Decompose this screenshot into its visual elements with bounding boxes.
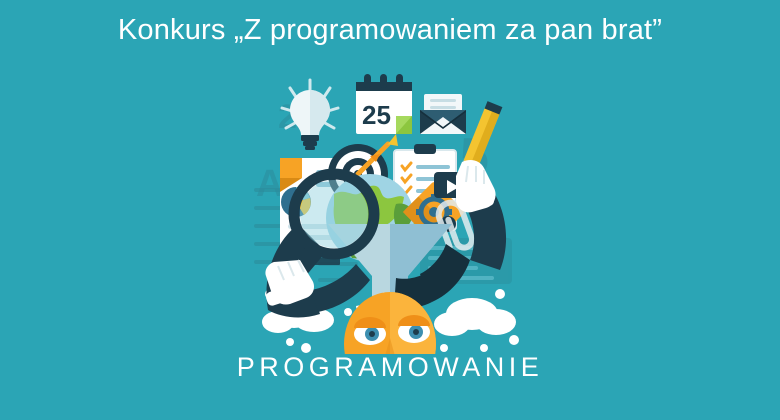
cloud-right [434,289,516,336]
right-glove-hand [456,160,496,212]
calendar-day-number: 25 [362,100,391,130]
bulb-glass-shade [310,90,330,135]
programming-concept-illustration: 2 + A 5 [248,66,536,354]
caption-text: PROGRAMOWANIE [0,352,780,383]
banner: Konkurs „Z programowaniem za pan brat” 2… [0,0,780,420]
page-title: Konkurs „Z programowaniem za pan brat” [0,14,780,47]
calendar-icon: 25 [356,74,412,134]
bubbles-right [440,335,519,352]
left-eye [354,317,386,345]
envelope-icon [420,94,466,134]
letter-a-glyph: A [256,163,283,205]
right-eye [398,315,430,343]
